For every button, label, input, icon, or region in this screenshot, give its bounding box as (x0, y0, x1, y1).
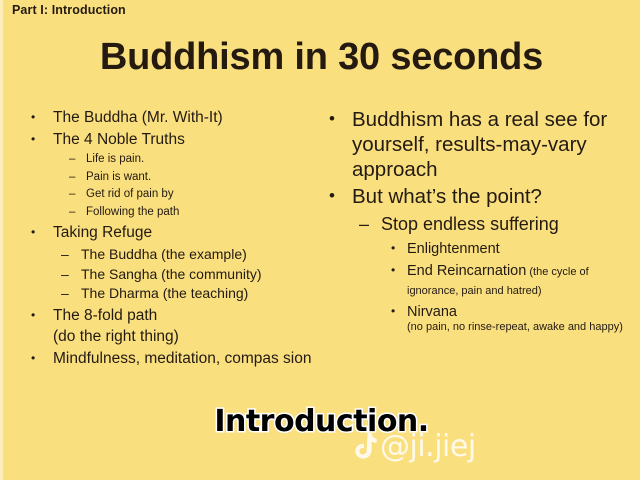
list-item: – Following the path (69, 204, 327, 221)
list-item: • End Reincarnation (the cycle of ignora… (391, 262, 640, 299)
list-item-label: Nirvana(no pain, no rinse-repeat, awake … (407, 303, 640, 335)
dash-marker: – (61, 245, 81, 265)
bullet-marker: • (31, 108, 53, 127)
bullet-marker: • (391, 262, 407, 279)
page-title: Buddhism in 30 seconds (3, 36, 640, 79)
list-item-label: The 8-fold path (do the right thing) (53, 306, 327, 347)
dash-marker: – (61, 265, 81, 285)
list-item-label: The Sangha (the community) (81, 265, 327, 285)
list-item-label: Following the path (86, 204, 327, 221)
list-item-label: Taking Refuge (53, 223, 327, 244)
list-item: • Mindfulness, meditation, compas sion (31, 349, 327, 370)
bullet-marker: • (31, 349, 53, 368)
list-item-label: Pain is want. (86, 169, 327, 186)
list-item: • Enlightenment (391, 240, 640, 258)
list-item-label: Enlightenment (407, 240, 640, 258)
list-item: • The 8-fold path (do the right thing) (31, 306, 327, 347)
list-item: – Get rid of pain by (69, 186, 327, 203)
list-item: • The Buddha (Mr. With-It) (31, 108, 327, 129)
list-item: • But what’s the point? (329, 185, 640, 210)
bullet-marker: • (31, 130, 53, 149)
bullet-marker: • (391, 303, 407, 320)
list-item-title: Nirvana (407, 304, 457, 320)
list-item-title: End Reincarnation (407, 263, 526, 279)
list-item-label: Life is pain. (86, 151, 327, 168)
list-item-label: The Buddha (the example) (81, 245, 327, 265)
list-item: • Taking Refuge (31, 223, 327, 244)
bullet-marker: • (31, 306, 53, 325)
list-item-label: The Dharma (the teaching) (81, 284, 327, 304)
bullet-marker: • (391, 240, 407, 257)
list-item: – Life is pain. (69, 151, 327, 168)
list-item-label: End Reincarnation (the cycle of ignoranc… (407, 262, 640, 299)
list-item-note: (no pain, no rinse-repeat, awake and hap… (407, 321, 640, 335)
list-item-label: The 4 Noble Truths (53, 130, 327, 151)
slide-canvas: Part I: Introduction Buddhism in 30 seco… (0, 0, 640, 480)
list-item-label: Buddhism has a real see for yourself, re… (352, 108, 640, 182)
part-label: Part I: Introduction (12, 3, 126, 17)
list-item: – Pain is want. (69, 169, 327, 186)
list-item-label: But what’s the point? (352, 185, 640, 210)
right-bullet-column: • Buddhism has a real see for yourself, … (329, 108, 640, 335)
list-item: – Stop endless suffering (359, 213, 640, 236)
list-item-label: Stop endless suffering (381, 213, 640, 236)
bullet-marker: • (329, 185, 352, 206)
list-item: • Nirvana(no pain, no rinse-repeat, awak… (391, 303, 640, 335)
list-item: • The 4 Noble Truths (31, 130, 327, 151)
bullet-marker: • (31, 223, 53, 242)
list-item: – The Buddha (the example) (61, 245, 327, 265)
dash-marker: – (69, 186, 86, 203)
list-item-label: The Buddha (Mr. With-It) (53, 108, 327, 129)
list-item: – The Dharma (the teaching) (61, 284, 327, 304)
dash-marker: – (359, 213, 381, 236)
dash-marker: – (69, 169, 86, 186)
bullet-marker: • (329, 108, 352, 129)
list-item-label: Mindfulness, meditation, compas sion (53, 349, 327, 370)
list-item: – The Sangha (the community) (61, 265, 327, 285)
dash-marker: – (69, 151, 86, 168)
dash-marker: – (69, 204, 86, 221)
left-bullet-column: • The Buddha (Mr. With-It) • The 4 Noble… (31, 108, 327, 370)
list-item-label: Get rid of pain by (86, 186, 327, 203)
dash-marker: – (61, 284, 81, 304)
video-caption-overlay: Introduction. (3, 404, 640, 439)
list-item: • Buddhism has a real see for yourself, … (329, 108, 640, 182)
